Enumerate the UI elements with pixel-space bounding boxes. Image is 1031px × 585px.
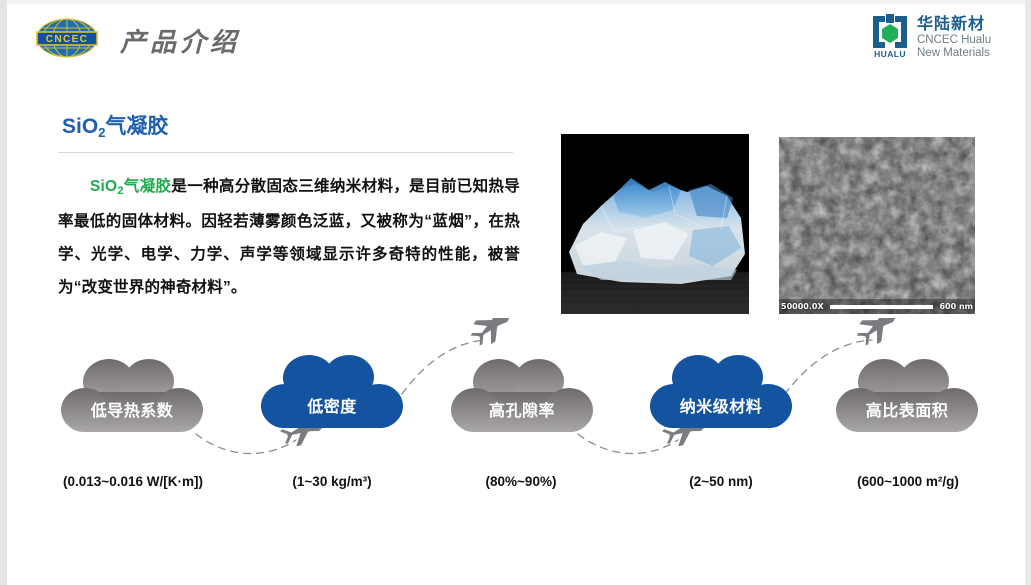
hualu-mark-icon: HUALU <box>873 14 907 59</box>
sem-scale-length-label: 600 nm <box>939 302 973 311</box>
cloud-captions-row: (0.013~0.016 W/[K·m]) (1~30 kg/m³) (80%~… <box>0 472 1031 502</box>
body-lead-tail: 气凝胶 <box>124 178 172 195</box>
cloud-caption-4: (600~1000 m²/g) <box>808 472 1008 492</box>
aerogel-sem-photo: 50000.0X 600 nm <box>779 137 975 314</box>
section-divider <box>58 152 513 153</box>
cloud-sequence: 低导热系数 低密度 <box>0 318 1031 468</box>
svg-text:New Materials: New Materials <box>917 47 990 59</box>
sem-scale-bar-line <box>830 305 934 309</box>
svg-text:HUALU: HUALU <box>874 49 906 59</box>
cloud-caption-3: (2~50 nm) <box>621 472 821 492</box>
sem-magnification-label: 50000.0X <box>781 302 824 311</box>
section-heading-formula-main: SiO <box>62 115 98 138</box>
body-lead-sub: 2 <box>117 185 123 197</box>
svg-text:CNCEC Hualu: CNCEC Hualu <box>917 34 991 46</box>
section-heading-formula-sub: 2 <box>98 125 105 140</box>
page-title: 产品介绍 <box>120 24 240 60</box>
header-divider <box>7 68 1025 69</box>
cncec-hualu-new-materials-logo: HUALU 华陆新材 CNCEC Hualu New Materials <box>867 12 1011 60</box>
aerogel-sample-photo <box>561 134 749 314</box>
cloud-item-3[interactable]: 纳米级材料 <box>646 350 796 436</box>
cloud-item-0[interactable]: 低导热系数 <box>57 354 207 440</box>
cloud-item-2[interactable]: 高孔隙率 <box>447 354 597 440</box>
cloud-caption-0: (0.013~0.016 W/[K·m]) <box>33 472 233 492</box>
body-rest-text: 是一种高分散固态三维纳米材料，是目前已知热导率最低的固体材料。因轻若薄雾颜色泛蓝… <box>58 178 520 296</box>
cloud-caption-2: (80%~90%) <box>421 472 621 492</box>
body-lead-main: SiO <box>90 178 117 195</box>
svg-text:华陆新材: 华陆新材 <box>917 14 985 33</box>
section-heading-tail: 气凝胶 <box>105 115 168 138</box>
sem-scale-bar: 50000.0X 600 nm <box>779 299 975 314</box>
svg-text:CNCEC: CNCEC <box>46 34 89 45</box>
section-body-paragraph: SiO2气凝胶是一种高分散固态三维纳米材料，是目前已知热导率最低的固体材料。因轻… <box>58 170 520 304</box>
cncec-logo: CNCEC <box>27 16 107 60</box>
section-heading: SiO2气凝胶 <box>62 112 168 144</box>
cloud-item-1[interactable]: 低密度 <box>257 350 407 436</box>
slide-canvas: CNCEC 产品介绍 HUALU 华陆新材 CNCEC Hualu New Ma… <box>0 0 1031 585</box>
cloud-item-4[interactable]: 高比表面积 <box>832 354 982 440</box>
slide-header: CNCEC 产品介绍 HUALU 华陆新材 CNCEC Hualu New Ma… <box>7 4 1025 68</box>
cloud-caption-1: (1~30 kg/m³) <box>232 472 432 492</box>
